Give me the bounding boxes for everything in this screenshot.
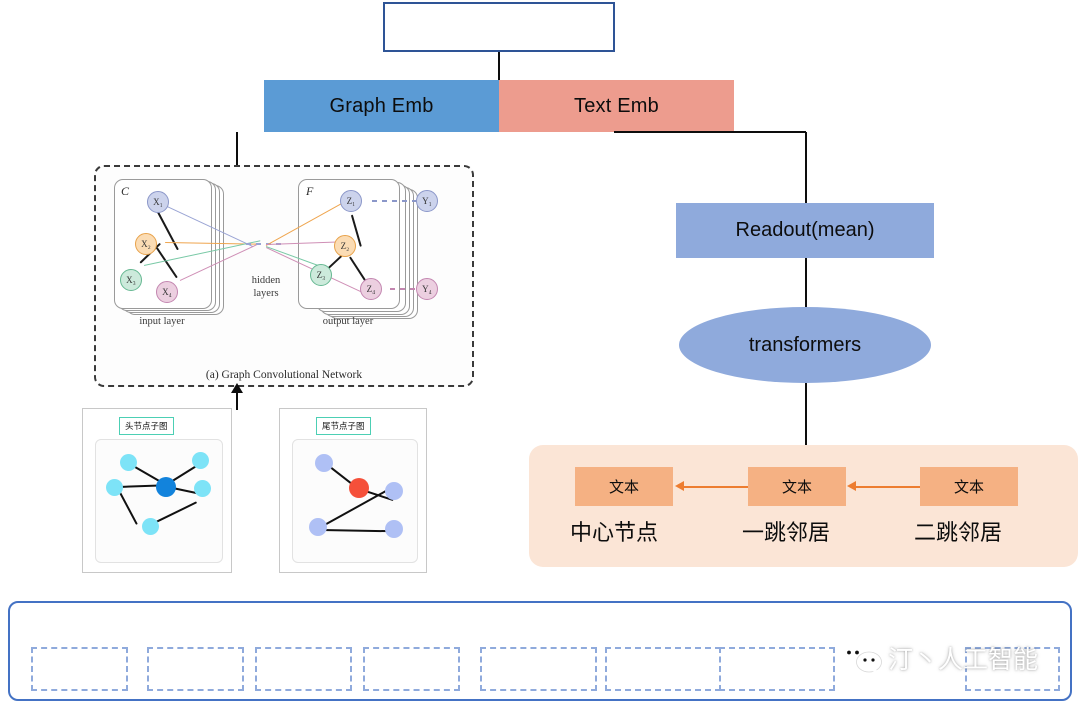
bottom-slot-6[interactable]	[605, 647, 721, 691]
subgraph-badge-head: 头节点子图	[119, 417, 174, 435]
bottom-slot-4[interactable]	[363, 647, 460, 691]
head-node-center	[156, 477, 176, 497]
dashed-link-y4	[390, 288, 418, 290]
connector-topbox-to-embbar	[498, 52, 500, 80]
wechat-logo-icon	[838, 643, 884, 673]
head-node-2	[192, 452, 209, 469]
arrow-onehop-to-center-head	[675, 481, 684, 491]
connector-textpanel-to-transformers	[805, 383, 807, 445]
connector-transformers-to-readout	[805, 258, 807, 308]
input-card-letter: C	[121, 184, 129, 199]
transformers-block[interactable]: transformers	[679, 307, 931, 383]
arrow-twohop-to-onehop-head	[847, 481, 856, 491]
gcn-node-y1: Y₁	[416, 190, 438, 212]
connector-gcn-to-graphemb	[236, 132, 238, 165]
tail-edge-4	[321, 529, 389, 533]
tail-node-4	[385, 520, 403, 538]
head-edge-5	[117, 489, 138, 525]
gcn-node-x1: X₁	[147, 191, 169, 213]
hidden-layers-label-line2: layers	[230, 288, 302, 300]
arrow-twohop-to-onehop-line	[854, 486, 920, 488]
gcn-caption: (a) Graph Convolutional Network	[94, 369, 474, 381]
output-layer-label: output layer	[298, 316, 398, 327]
gcn-node-x2: X₂	[135, 233, 157, 255]
bottom-slot-5[interactable]	[480, 647, 597, 691]
gcn-node-z1: Z₁	[340, 190, 362, 212]
text-neighbour-panel: 文本 文本 文本 中心节点 一跳邻居 二跳邻居	[529, 445, 1078, 567]
bottom-slot-1[interactable]	[31, 647, 128, 691]
gcn-node-z4: Z₄	[360, 278, 382, 300]
gcn-node-x4: X₄	[156, 281, 178, 303]
tail-node-2	[385, 482, 403, 500]
subgraph-badge-tail: 尾节点子图	[316, 417, 371, 435]
text-label-twohop: 二跳邻居	[914, 515, 1002, 547]
head-node-5	[142, 518, 159, 535]
output-card-letter: F	[306, 184, 313, 199]
arrow-onehop-to-center-line	[682, 486, 748, 488]
gcn-figure-content: C X₁ X₂ X₃ X₄ input layer hidden layers …	[94, 165, 474, 387]
bottom-slot-2[interactable]	[147, 647, 244, 691]
subgraph-card-head: 头节点子图	[82, 408, 232, 573]
tail-node-3	[309, 518, 327, 536]
subgraph-canvas-head	[95, 439, 223, 563]
embedding-bar: Graph Emb Text Emb	[264, 80, 734, 132]
subgraph-card-tail: 尾节点子图	[279, 408, 427, 573]
subgraph-canvas-tail	[292, 439, 418, 563]
text-emb-cell[interactable]: Text Emb	[499, 80, 734, 132]
bottom-slot-7[interactable]	[719, 647, 835, 691]
gcn-node-y4: Y₄	[416, 278, 438, 300]
text-box-twohop[interactable]: 文本	[920, 467, 1018, 506]
graph-emb-cell[interactable]: Graph Emb	[264, 80, 499, 132]
watermark-text: 汀丶人工智能	[888, 640, 1038, 676]
head-node-3	[106, 479, 123, 496]
gcn-node-x3: X₃	[120, 269, 142, 291]
connector-textemb-bridge	[614, 131, 806, 133]
head-node-4	[194, 480, 211, 497]
gcn-node-z2: Z₂	[334, 235, 356, 257]
text-label-center: 中心节点	[570, 515, 658, 547]
tail-node-center	[349, 478, 369, 498]
top-output-box	[383, 2, 615, 52]
connector-subgraphs-to-gcn-arrow	[231, 383, 243, 393]
text-box-center[interactable]: 文本	[575, 467, 673, 506]
bottom-slot-3[interactable]	[255, 647, 352, 691]
dashed-link-y1	[372, 200, 418, 202]
connector-readout-to-textemb	[805, 132, 807, 203]
watermark: 汀丶人工智能	[838, 640, 1038, 676]
gcn-node-z3: Z₃	[310, 264, 332, 286]
hidden-layers-label-line1: hidden	[230, 275, 302, 287]
readout-block[interactable]: Readout(mean)	[676, 203, 934, 258]
text-label-onehop: 一跳邻居	[742, 515, 830, 547]
text-box-onehop[interactable]: 文本	[748, 467, 846, 506]
head-node-1	[120, 454, 137, 471]
input-layer-label: input layer	[114, 316, 210, 327]
connector-subgraphs-to-gcn-line	[236, 392, 238, 410]
tail-node-1	[315, 454, 333, 472]
diagram-canvas: Graph Emb Text Emb C X₁ X₂ X₃ X₄ input l…	[0, 0, 1080, 705]
